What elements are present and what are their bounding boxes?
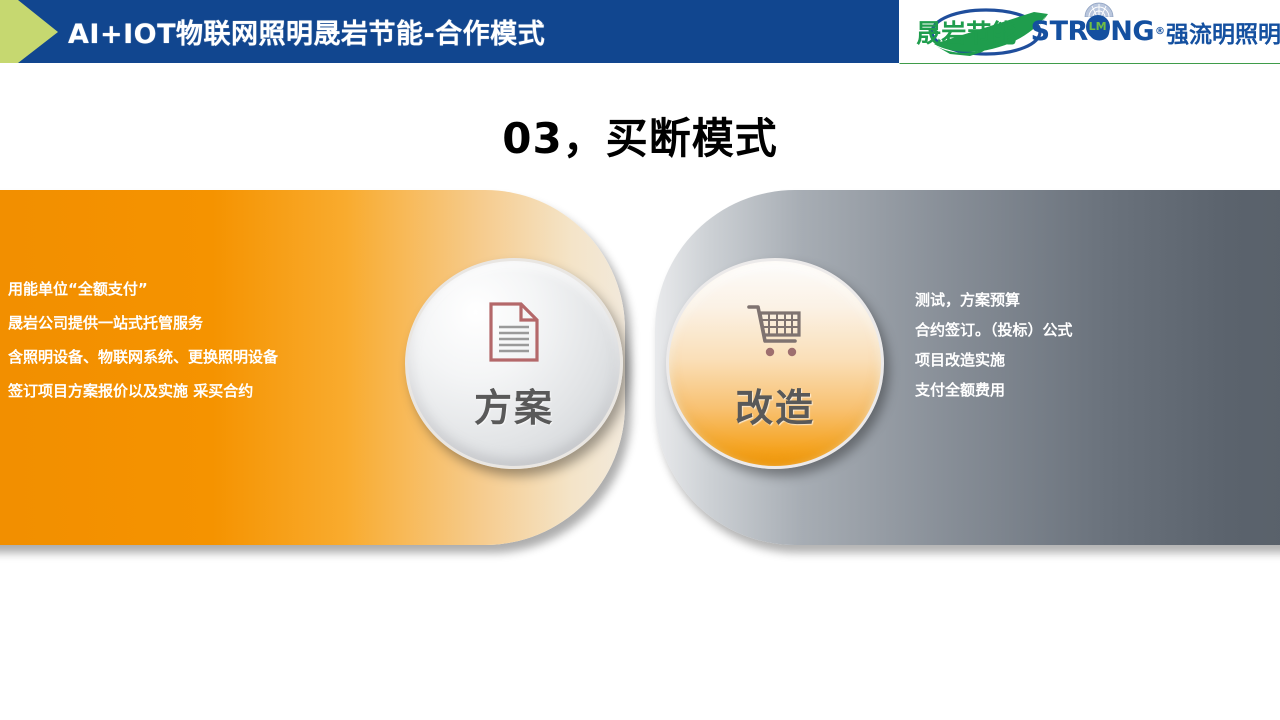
right-panel-line-1: 测试，方案预算 — [915, 285, 1245, 315]
left-panel-line-2: 晟岩公司提供一站式托管服务 — [8, 306, 353, 340]
left-panel-line-1: 用能单位“全额支付” — [8, 272, 353, 306]
bubble-retrofit[interactable]: 改造 — [666, 258, 884, 469]
document-page-icon — [487, 301, 541, 363]
right-panel-line-4: 支付全额费用 — [915, 375, 1245, 405]
right-panel-line-2: 合约签订。（投标）公式 — [915, 315, 1245, 345]
shopping-cart-icon — [745, 301, 805, 363]
bubble-plan[interactable]: 方案 — [405, 258, 623, 469]
diagram-stage: 用能单位“全额支付” 晟岩公司提供一站式托管服务 含照明设备、物联网系统、更换照… — [0, 0, 1280, 720]
left-panel-line-3: 含照明设备、物联网系统、更换照明设备 — [8, 340, 353, 374]
right-panel-text: 测试，方案预算 合约签订。（投标）公式 项目改造实施 支付全额费用 — [915, 285, 1245, 405]
left-panel-text: 用能单位“全额支付” 晟岩公司提供一站式托管服务 含照明设备、物联网系统、更换照… — [8, 272, 353, 408]
bubble-plan-label: 方案 — [474, 377, 554, 432]
right-panel-line-3: 项目改造实施 — [915, 345, 1245, 375]
left-panel-line-4: 签订项目方案报价以及实施 采买合约 — [8, 374, 353, 408]
logo-brand-cn: 晟岩节能 — [916, 14, 1016, 50]
bubble-retrofit-label: 改造 — [735, 377, 815, 432]
